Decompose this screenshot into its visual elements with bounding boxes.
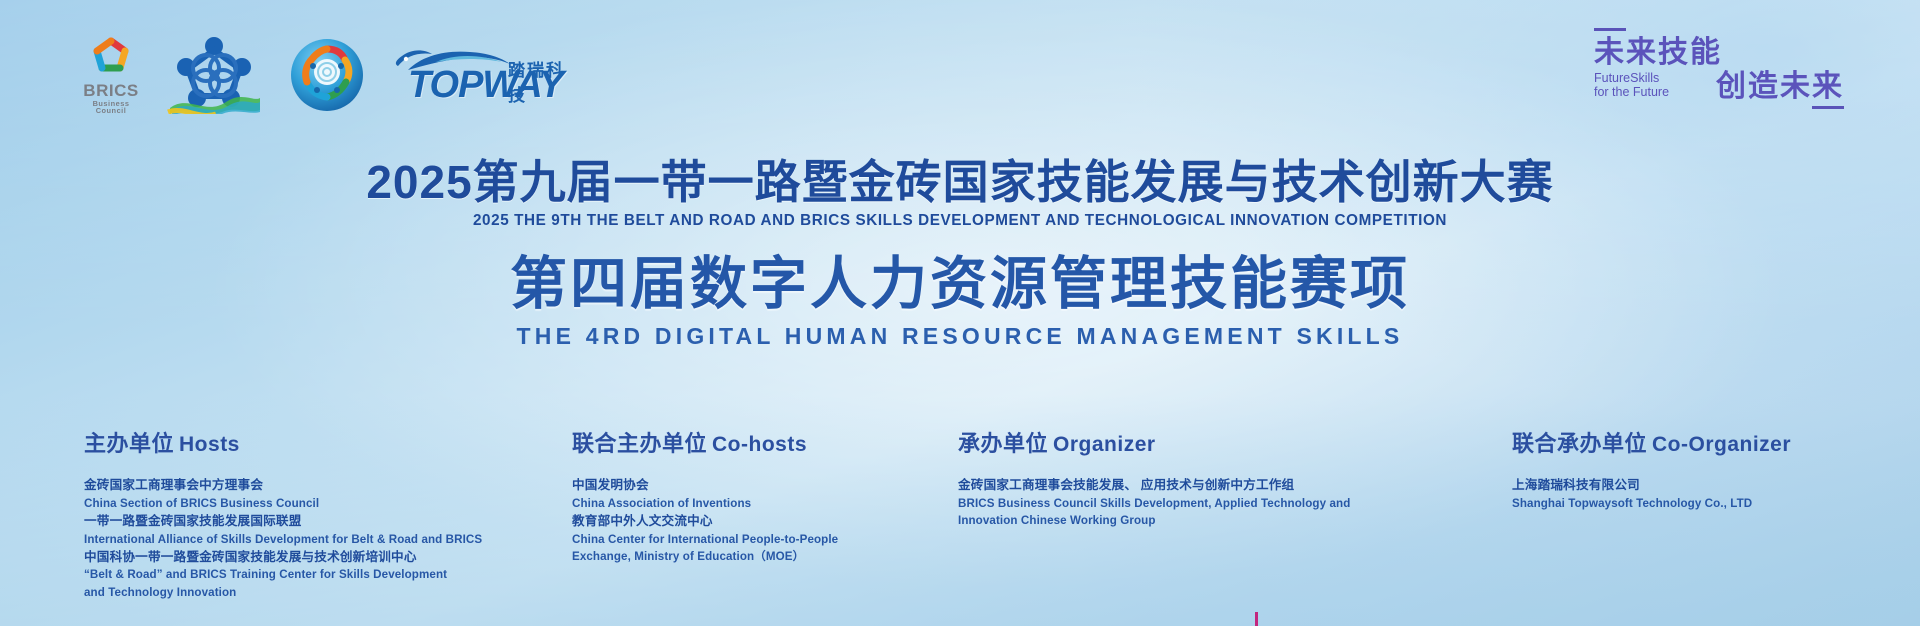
org-item: 中国发明协会 China Association of Inventions [572, 476, 902, 512]
org-name-en: China Center for International People-to… [572, 531, 902, 565]
column-organizer: 承办单位Organizer 金砖国家工商理事会技能发展、 应用技术与创新中方工作… [958, 432, 1388, 529]
column-organizer-heading-cn: 承办单位 [958, 431, 1048, 456]
slogan-english: FutureSkills for the Future [1594, 71, 1710, 103]
main-title-chinese: 2025第九届一带一路暨金砖国家技能发展与技术创新大赛 [0, 158, 1920, 206]
slogan-line-2: 创造未来 [1716, 71, 1844, 103]
column-hosts-heading-cn: 主办单位 [84, 431, 174, 456]
column-coorganizer: 联合承办单位Co-Organizer 上海踏瑞科技有限公司 Shanghai T… [1512, 432, 1872, 512]
future-skills-slogan: 未来技能 FutureSkills for the Future 创造未来 [1594, 28, 1844, 115]
column-coorganizer-heading-en: Co-Organizer [1652, 433, 1791, 456]
org-name-cn: 教育部中外人文交流中心 [572, 512, 902, 531]
subtitle-english: THE 4RD DIGITAL HUMAN RESOURCE MANAGEMEN… [0, 323, 1920, 350]
slogan-rule-bottom [1812, 106, 1844, 109]
subtitle-chinese: 第四届数字人力资源管理技能赛项 [0, 255, 1920, 315]
brics-business-council-logo: BRICS Business Council [78, 36, 144, 114]
column-cohosts-heading: 联合主办单位Co-hosts [572, 432, 902, 456]
org-name-en: Shanghai Topwaysoft Technology Co., LTD [1512, 495, 1872, 512]
brics-star-icon [87, 36, 135, 82]
competition-banner: BRICS Business Council [0, 0, 1920, 626]
slogan-rule-top [1594, 28, 1626, 31]
skills-alliance-logo [166, 36, 262, 114]
column-hosts: 主办单位Hosts 金砖国家工商理事会中方理事会 China Section o… [84, 432, 514, 601]
org-name-cn: 金砖国家工商理事会中方理事会 [84, 476, 514, 495]
brics-logo-line1: BRICS [78, 82, 144, 99]
org-name-cn: 中国科协一带一路暨金砖国家技能发展与技术创新培训中心 [84, 548, 514, 567]
org-item: 中国科协一带一路暨金砖国家技能发展与技术创新培训中心 “Belt & Road”… [84, 548, 514, 601]
column-coorganizer-heading-cn: 联合承办单位 [1512, 431, 1647, 456]
column-hosts-heading: 主办单位Hosts [84, 432, 514, 456]
column-cohosts: 联合主办单位Co-hosts 中国发明协会 China Association … [572, 432, 902, 565]
column-cohosts-heading-cn: 联合主办单位 [572, 431, 707, 456]
org-name-cn: 上海踏瑞科技有限公司 [1512, 476, 1872, 495]
org-name-cn: 一带一路暨金砖国家技能发展国际联盟 [84, 512, 514, 531]
org-item: 金砖国家工商理事会技能发展、 应用技术与创新中方工作组 BRICS Busine… [958, 476, 1388, 529]
main-title-english: 2025 THE 9TH THE BELT AND ROAD AND BRICS… [14, 212, 1905, 230]
star-emblem-logo [290, 36, 364, 114]
org-item: 教育部中外人文交流中心 China Center for Internation… [572, 512, 902, 565]
main-title-block: 2025第九届一带一路暨金砖国家技能发展与技术创新大赛 2025 THE 9TH… [0, 158, 1920, 230]
column-hosts-heading-en: Hosts [179, 433, 240, 456]
column-organizer-heading: 承办单位Organizer [958, 432, 1388, 456]
org-name-cn: 中国发明协会 [572, 476, 902, 495]
organizer-columns: 主办单位Hosts 金砖国家工商理事会中方理事会 China Section o… [0, 432, 1920, 602]
subtitle-block: 第四届数字人力资源管理技能赛项 THE 4RD DIGITAL HUMAN RE… [0, 255, 1920, 350]
org-name-en: International Alliance of Skills Develop… [84, 531, 514, 548]
org-name-en: BRICS Business Council Skills Developmen… [958, 495, 1388, 529]
topway-chinese-name: 踏瑞科技 [508, 56, 574, 106]
topway-logo: TOPWAY 踏瑞科技 [394, 42, 574, 114]
column-coorganizer-heading: 联合承办单位Co-Organizer [1512, 432, 1872, 456]
org-name-en: “Belt & Road” and BRICS Training Center … [84, 566, 514, 600]
org-item: 一带一路暨金砖国家技能发展国际联盟 International Alliance… [84, 512, 514, 548]
org-item: 金砖国家工商理事会中方理事会 China Section of BRICS Bu… [84, 476, 514, 512]
column-organizer-heading-en: Organizer [1053, 433, 1156, 456]
column-cohosts-heading-en: Co-hosts [712, 433, 807, 456]
org-name-en: China Section of BRICS Business Council [84, 495, 514, 512]
brics-logo-text: BRICS Business Council [78, 82, 144, 115]
slogan-line-1: 未来技能 [1594, 37, 1844, 69]
org-name-en: China Association of Inventions [572, 495, 902, 512]
logo-row: BRICS Business Council [78, 36, 574, 114]
org-name-cn: 金砖国家工商理事会技能发展、 应用技术与创新中方工作组 [958, 476, 1388, 495]
pink-edge-mark [1255, 612, 1258, 626]
org-item: 上海踏瑞科技有限公司 Shanghai Topwaysoft Technolog… [1512, 476, 1872, 512]
brics-logo-line2: Business Council [78, 100, 144, 115]
